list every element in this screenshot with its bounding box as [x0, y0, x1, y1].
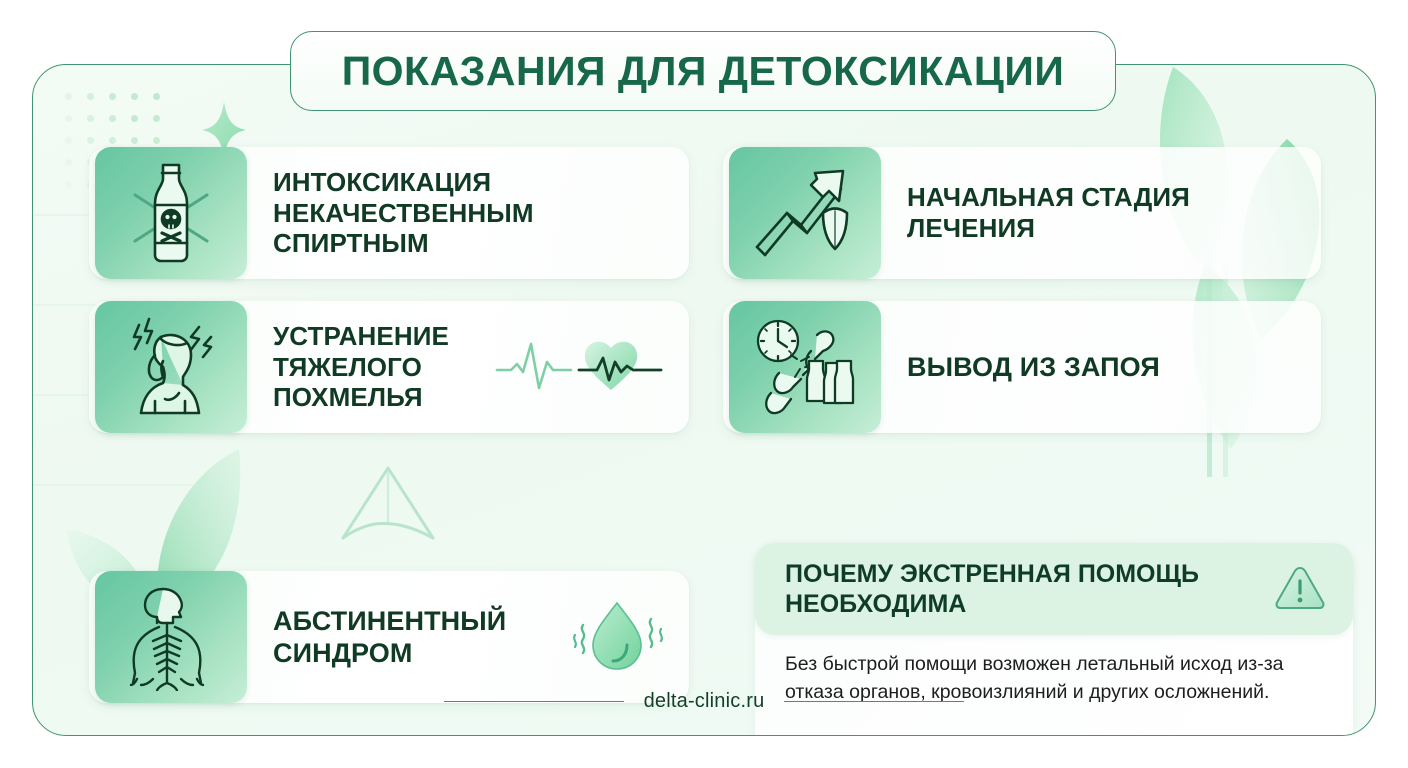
warning-triangle-icon — [1271, 562, 1353, 616]
footer-url[interactable]: delta-clinic.ru — [644, 690, 765, 713]
card-binge-exit[interactable]: ВЫВОД ИЗ ЗАПОЯ — [723, 301, 1321, 433]
info-heading: ПОЧЕМУ ЭКСТРЕННАЯ ПОМОЩЬ НЕОБХОДИМА — [755, 559, 1271, 619]
card-label: УСТРАНЕНИЕ ТЯЖЕЛОГО ПОХМЕЛЬЯ — [247, 321, 495, 414]
footer: delta-clinic.ru — [33, 690, 1375, 713]
delta-logo-watermark — [333, 460, 443, 555]
title-badge: ПОКАЗАНИЯ ДЛЯ ДЕТОКСИКАЦИИ — [290, 31, 1116, 111]
sweat-drop-icon — [569, 595, 689, 679]
growth-arrow-shield-icon — [729, 147, 881, 279]
card-label: ИНТОКСИКАЦИЯ НЕКАЧЕСТВЕННЫМ СПИРТНЫМ — [247, 167, 689, 260]
main-panel: ИНТОКСИКАЦИЯ НЕКАЧЕСТВЕННЫМ СПИРТНЫМ — [32, 64, 1376, 736]
ecg-heart-pulse-icon — [495, 332, 689, 402]
card-withdrawal[interactable]: АБСТИНЕНТНЫЙ СИНДРОМ — [89, 571, 689, 703]
card-early-stage[interactable]: НАЧАЛЬНАЯ СТАДИЯ ЛЕЧЕНИЯ — [723, 147, 1321, 279]
infographic-root: ИНТОКСИКАЦИЯ НЕКАЧЕСТВЕННЫМ СПИРТНЫМ — [0, 0, 1408, 768]
card-label: НАЧАЛЬНАЯ СТАДИЯ ЛЕЧЕНИЯ — [881, 182, 1321, 244]
info-panel-header: ПОЧЕМУ ЭКСТРЕННАЯ ПОМОЩЬ НЕОБХОДИМА — [755, 543, 1353, 635]
page-title: ПОКАЗАНИЯ ДЛЯ ДЕТОКСИКАЦИИ — [342, 48, 1065, 95]
card-label: ВЫВОД ИЗ ЗАПОЯ — [881, 351, 1321, 383]
footer-rule-left — [444, 701, 624, 703]
card-intoxication[interactable]: ИНТОКСИКАЦИЯ НЕКАЧЕСТВЕННЫМ СПИРТНЫМ — [89, 147, 689, 279]
clock-broken-chain-bottles-icon — [729, 301, 881, 433]
card-hangover[interactable]: УСТРАНЕНИЕ ТЯЖЕЛОГО ПОХМЕЛЬЯ — [89, 301, 689, 433]
bottle-skull-crossed-out-icon — [95, 147, 247, 279]
nervous-system-body-icon — [95, 571, 247, 703]
footer-rule-right — [784, 701, 964, 703]
card-label: АБСТИНЕНТНЫЙ СИНДРОМ — [247, 605, 569, 669]
headache-person-icon — [95, 301, 247, 433]
